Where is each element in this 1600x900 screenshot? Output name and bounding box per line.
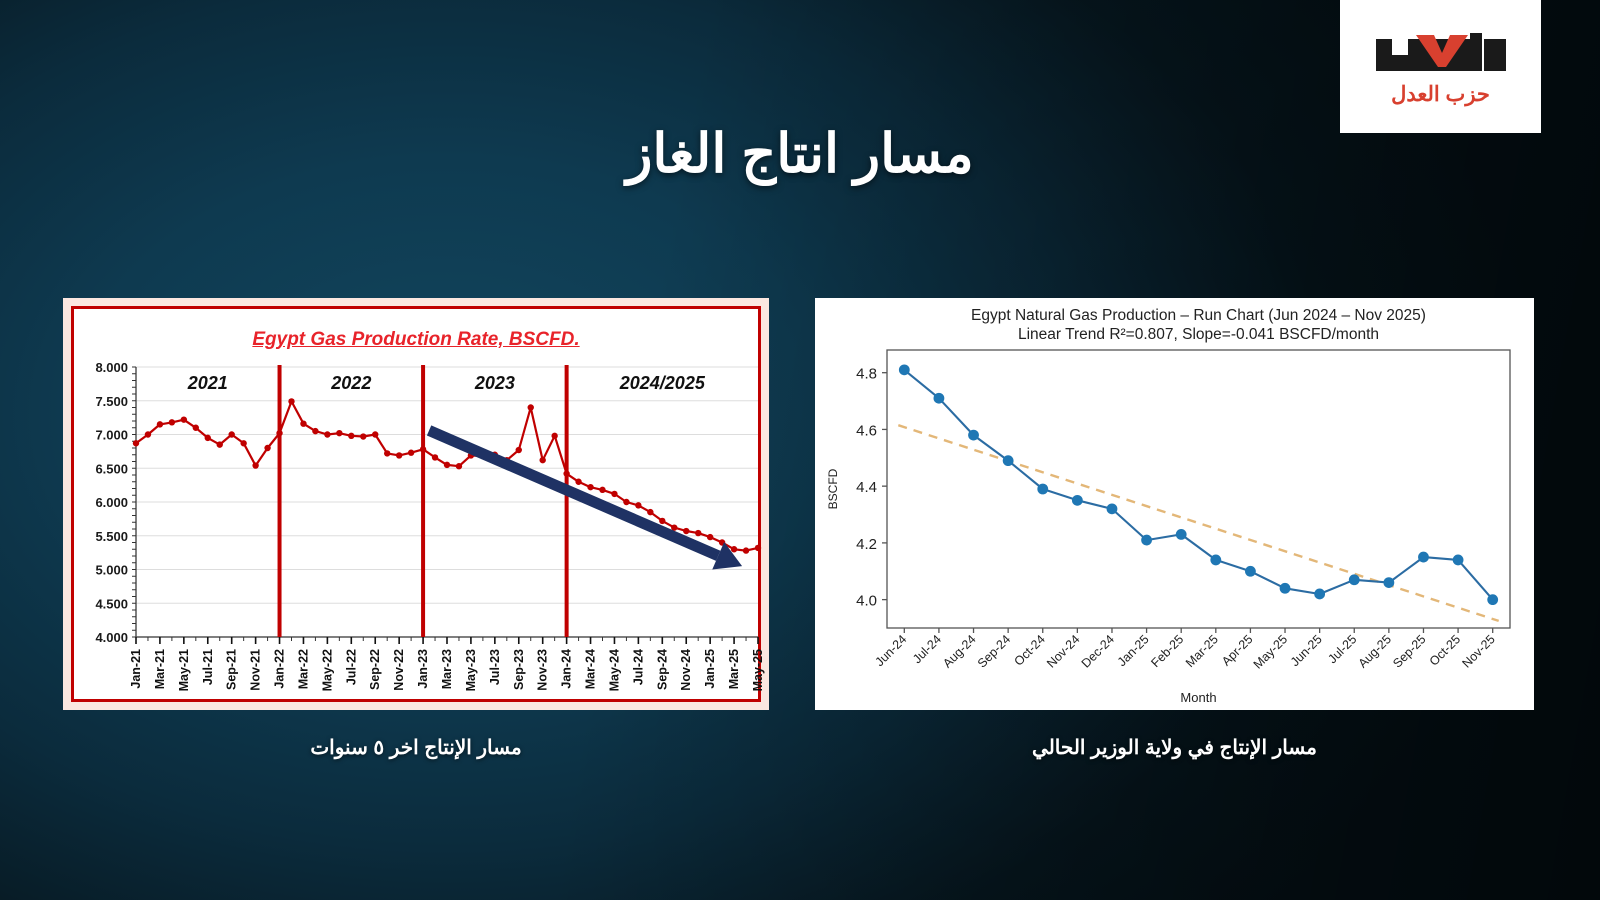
svg-text:Mar-22: Mar-22 xyxy=(296,649,310,689)
svg-text:7.500: 7.500 xyxy=(95,394,128,409)
svg-text:Month: Month xyxy=(1180,690,1216,705)
svg-text:Jun-24: Jun-24 xyxy=(872,632,909,669)
svg-text:Jul-23: Jul-23 xyxy=(488,649,502,685)
svg-text:Mar-25: Mar-25 xyxy=(727,649,741,689)
svg-text:4.0: 4.0 xyxy=(856,593,877,610)
svg-text:Jan-25: Jan-25 xyxy=(1115,632,1152,669)
svg-text:Sep-24: Sep-24 xyxy=(655,649,669,690)
svg-text:May-23: May-23 xyxy=(464,649,478,691)
svg-text:Nov-23: Nov-23 xyxy=(536,649,550,691)
svg-text:Sep-23: Sep-23 xyxy=(512,649,526,690)
svg-text:BSCFD: BSCFD xyxy=(826,468,840,509)
svg-text:Jan-25: Jan-25 xyxy=(703,649,717,689)
logo-mark-icon xyxy=(1374,29,1508,81)
svg-text:7.000: 7.000 xyxy=(95,428,128,443)
svg-text:4.4: 4.4 xyxy=(856,479,877,496)
svg-text:4.500: 4.500 xyxy=(95,596,128,611)
svg-text:Sep-24: Sep-24 xyxy=(975,632,1013,670)
svg-text:May-25: May-25 xyxy=(751,649,765,691)
svg-text:Nov-21: Nov-21 xyxy=(249,649,263,691)
svg-text:Oct-25: Oct-25 xyxy=(1427,632,1463,668)
left-chart-frame: Egypt Gas Production Rate, BSCFD. 4.0004… xyxy=(71,306,761,702)
svg-text:Jul-22: Jul-22 xyxy=(344,649,358,685)
svg-text:Nov-24: Nov-24 xyxy=(679,649,693,691)
svg-text:4.2: 4.2 xyxy=(856,536,877,553)
svg-text:Nov-24: Nov-24 xyxy=(1044,632,1082,670)
svg-text:Oct-24: Oct-24 xyxy=(1011,632,1047,668)
svg-text:6.000: 6.000 xyxy=(95,495,128,510)
svg-text:Jul-25: Jul-25 xyxy=(1325,632,1359,666)
svg-text:May-21: May-21 xyxy=(177,649,191,691)
svg-text:Nov-25: Nov-25 xyxy=(1459,632,1497,670)
svg-text:Nov-22: Nov-22 xyxy=(392,649,406,691)
svg-text:Linear Trend R²=0.807, Slope=-: Linear Trend R²=0.807, Slope=-0.041 BSCF… xyxy=(1018,326,1379,343)
right-chart-plot: Egypt Natural Gas Production – Run Chart… xyxy=(815,298,1534,710)
svg-text:5.500: 5.500 xyxy=(95,529,128,544)
svg-text:Aug-24: Aug-24 xyxy=(940,632,978,670)
svg-text:Feb-25: Feb-25 xyxy=(1148,632,1186,670)
svg-text:4.6: 4.6 xyxy=(856,422,877,439)
svg-text:Sep-25: Sep-25 xyxy=(1390,632,1428,670)
left-chart-panel: Egypt Gas Production Rate, BSCFD. 4.0004… xyxy=(63,298,769,710)
logo-wordmark: حزب العدل xyxy=(1391,84,1490,105)
svg-text:May-24: May-24 xyxy=(607,649,621,691)
svg-text:Jul-21: Jul-21 xyxy=(201,649,215,685)
svg-text:May-22: May-22 xyxy=(320,649,334,691)
svg-text:Jul-24: Jul-24 xyxy=(910,632,944,666)
svg-text:8.000: 8.000 xyxy=(95,360,128,375)
svg-text:Jan-22: Jan-22 xyxy=(273,649,287,689)
svg-text:Dec-24: Dec-24 xyxy=(1079,632,1117,670)
svg-text:6.500: 6.500 xyxy=(95,461,128,476)
svg-text:2022: 2022 xyxy=(330,373,371,393)
svg-text:Mar-25: Mar-25 xyxy=(1183,632,1221,670)
svg-text:Mar-24: Mar-24 xyxy=(584,649,598,689)
svg-text:Aug-25: Aug-25 xyxy=(1356,632,1394,670)
svg-text:Jan-21: Jan-21 xyxy=(129,649,143,689)
party-logo: حزب العدل xyxy=(1340,0,1541,133)
svg-text:Jan-24: Jan-24 xyxy=(560,649,574,689)
svg-text:Sep-21: Sep-21 xyxy=(225,649,239,690)
svg-text:Apr-25: Apr-25 xyxy=(1219,632,1255,668)
right-chart-panel: Egypt Natural Gas Production – Run Chart… xyxy=(815,298,1534,710)
svg-text:Jul-24: Jul-24 xyxy=(631,649,645,685)
page-title: مسار انتاج الغاز xyxy=(0,122,1600,185)
svg-text:2021: 2021 xyxy=(187,373,228,393)
svg-text:2023: 2023 xyxy=(474,373,515,393)
svg-text:2024/2025: 2024/2025 xyxy=(619,373,706,393)
svg-text:Sep-22: Sep-22 xyxy=(368,649,382,690)
svg-text:Jan-23: Jan-23 xyxy=(416,649,430,689)
left-chart-plot: 4.0004.5005.0005.5006.0006.5007.0007.500… xyxy=(74,309,768,709)
svg-text:5.000: 5.000 xyxy=(95,563,128,578)
svg-text:May-25: May-25 xyxy=(1251,632,1290,671)
right-chart-caption: مسار الإنتاج في ولاية الوزير الحالي xyxy=(815,735,1534,760)
svg-text:4.000: 4.000 xyxy=(95,630,128,645)
svg-text:Mar-21: Mar-21 xyxy=(153,649,167,689)
svg-text:Egypt Natural Gas Production –: Egypt Natural Gas Production – Run Chart… xyxy=(971,307,1426,324)
svg-text:4.8: 4.8 xyxy=(856,366,877,383)
left-chart-caption: مسار الإنتاج اخر ٥ سنوات xyxy=(63,735,769,760)
svg-text:Mar-23: Mar-23 xyxy=(440,649,454,689)
svg-text:Jun-25: Jun-25 xyxy=(1288,632,1325,669)
